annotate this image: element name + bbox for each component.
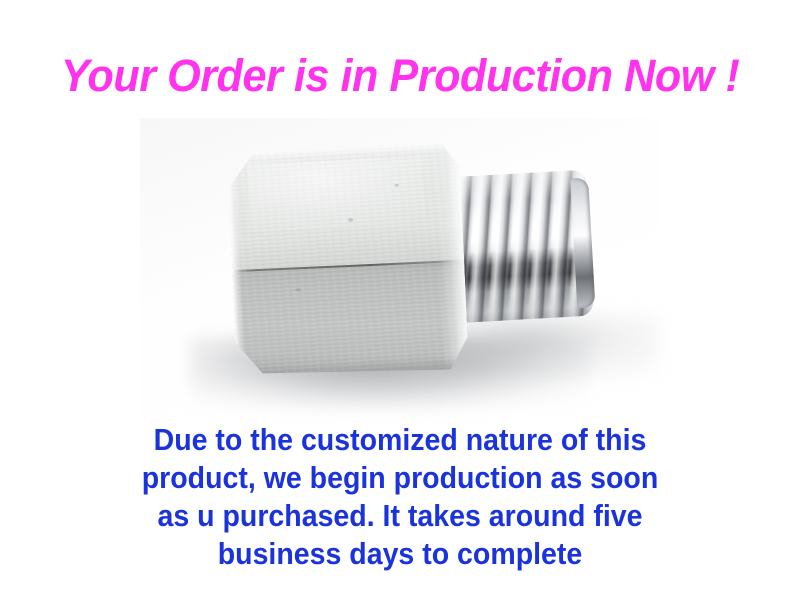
notice-line-3: as u purchased. It takes around five: [32, 497, 768, 535]
notice-line-4: business days to complete: [32, 535, 768, 573]
hex-specular-highlight: [246, 156, 425, 232]
product-photo: [140, 118, 660, 418]
notice-line-1: Due to the customized nature of this: [32, 421, 768, 459]
page-title: Your Order is in Production Now !: [16, 50, 784, 102]
notice-line-2: product, we begin production as soon: [32, 459, 768, 497]
production-notice: Due to the customized nature of this pro…: [32, 421, 768, 573]
hex-body: [227, 141, 469, 379]
promo-banner: Your Order is in Production Now !: [0, 0, 800, 600]
